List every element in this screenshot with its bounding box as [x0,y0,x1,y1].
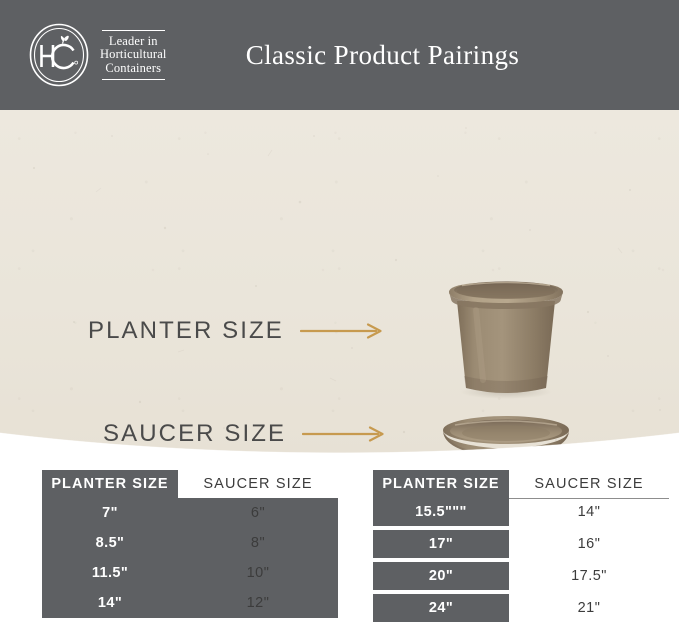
table-row: 11.5" 10" [42,558,338,588]
cell-planter-size: 8.5" [42,528,178,558]
cell-planter-size: 24" [373,594,509,622]
size-table-right: PLANTER SIZE SAUCER SIZE 15.5""" 14" 17"… [373,470,669,636]
cell-saucer-size: 16" [509,530,669,558]
cell-saucer-size: 21" [509,594,669,622]
cell-planter-size: 14" [42,588,178,618]
paper-texture [0,110,679,455]
cell-planter-size: 20" [373,562,509,590]
table-row: 14" 12" [42,588,338,618]
callout-planter-size: PLANTER SIZE [88,317,384,345]
cell-saucer-size: 14" [509,498,669,526]
column-header-saucer: SAUCER SIZE [509,470,669,498]
brand-logo: Leader in Horticultural Containers [28,22,203,88]
callout-planter-label: PLANTER SIZE [88,317,284,345]
table-body: 15.5""" 14" 17" 16" 20" 17.5" 24" 21" [373,498,669,622]
cell-saucer-size: 12" [178,588,338,618]
cell-saucer-size: 10" [178,558,338,588]
tagline-line-3: Containers [100,62,167,76]
table-row: 15.5""" 14" [373,498,669,526]
saucer-dish-image [439,413,573,470]
table-body: 7" 6" 8.5" 8" 11.5" 10" 14" 12" [42,498,338,618]
table-row: 7" 6" [42,498,338,528]
cell-planter-size: 11.5" [42,558,178,588]
table-header-row: PLANTER SIZE SAUCER SIZE [373,470,669,498]
brand-tagline: Leader in Horticultural Containers [100,30,167,81]
arrow-right-icon [302,426,386,442]
header-bar: Leader in Horticultural Containers Class… [0,0,679,110]
column-header-planter: PLANTER SIZE [373,470,509,498]
table-row: 8.5" 8" [42,528,338,558]
hero-panel: PLANTER SIZE SAUCER SIZE [0,110,679,455]
tagline-line-1: Leader in [100,35,167,49]
callout-saucer-label: SAUCER SIZE [103,420,286,448]
cell-planter-size: 7" [42,498,178,528]
size-table-left: PLANTER SIZE SAUCER SIZE 7" 6" 8.5" 8" 1… [42,470,338,636]
planter-pot-image [440,276,572,398]
table-row: 24" 21" [373,594,669,622]
arrow-right-icon [300,323,384,339]
size-chart-tables: PLANTER SIZE SAUCER SIZE 7" 6" 8.5" 8" 1… [0,470,679,636]
callout-saucer-size: SAUCER SIZE [103,420,386,448]
column-header-saucer: SAUCER SIZE [178,470,338,498]
column-header-planter: PLANTER SIZE [42,470,178,498]
table-row: 17" 16" [373,530,669,558]
cell-planter-size: 15.5""" [373,498,509,526]
table-row: 20" 17.5" [373,562,669,590]
cell-saucer-size: 6" [178,498,338,528]
hc-logo-icon [28,23,90,87]
tagline-line-2: Horticultural [100,48,167,62]
product-pairings-infographic: Leader in Horticultural Containers Class… [0,0,679,636]
cell-saucer-size: 8" [178,528,338,558]
cell-saucer-size: 17.5" [509,562,669,590]
table-header-row: PLANTER SIZE SAUCER SIZE [42,470,338,498]
cell-planter-size: 17" [373,530,509,558]
